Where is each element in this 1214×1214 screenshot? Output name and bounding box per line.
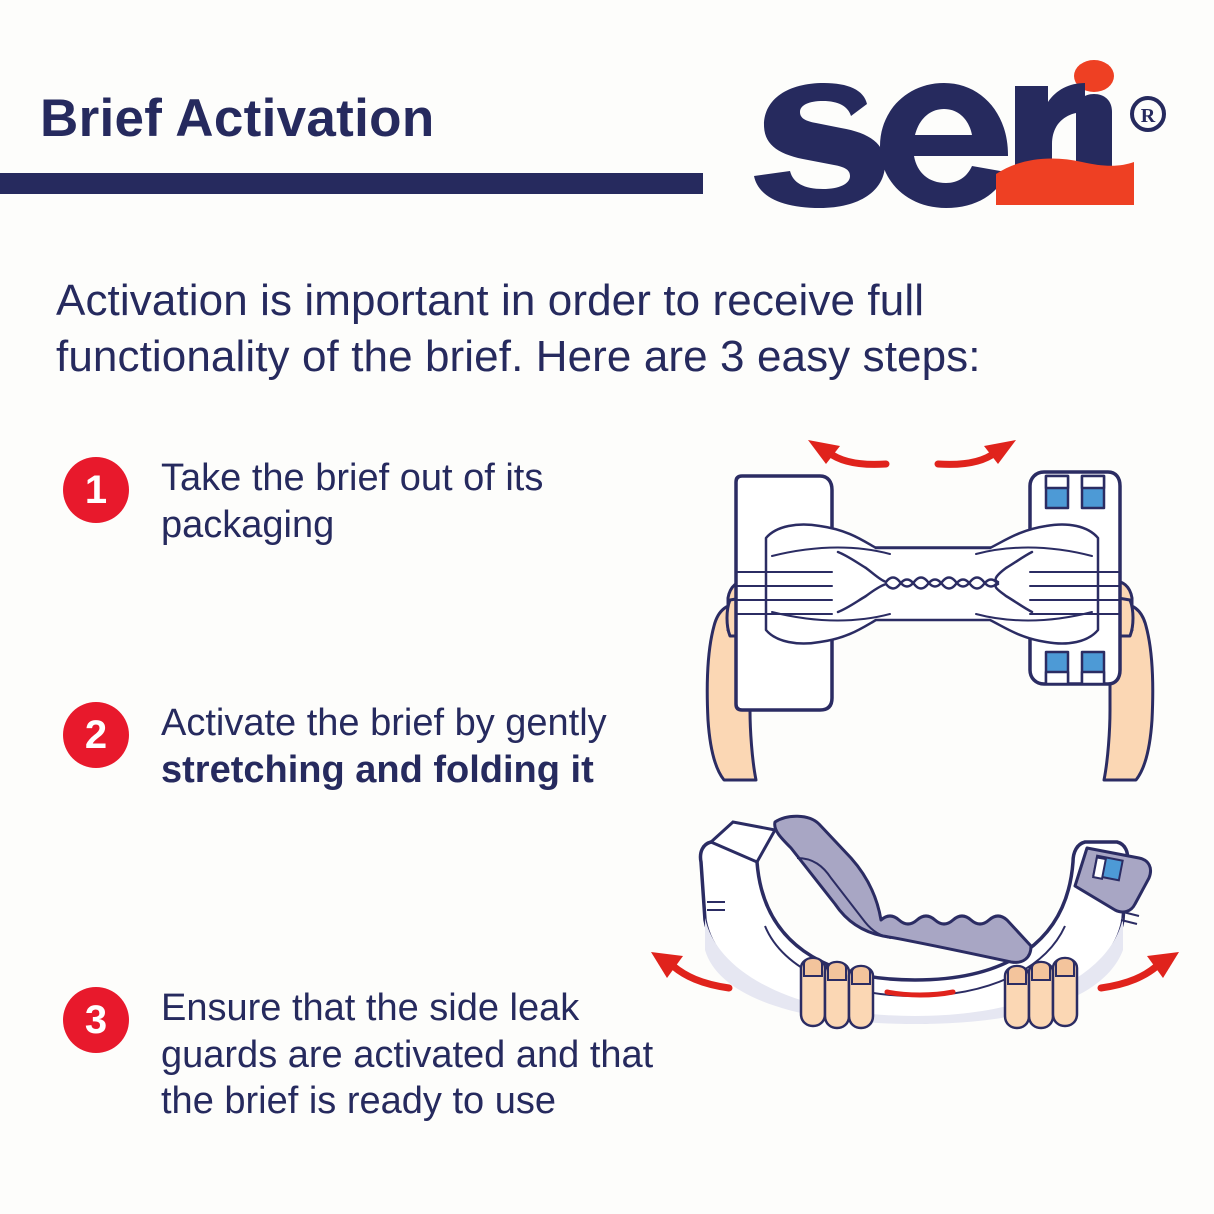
svg-text:R: R [1141,105,1156,127]
logo-orange-wave [996,158,1134,205]
brief-fold-illustration [615,800,1214,1050]
intro-paragraph: Activation is important in order to rece… [56,273,1116,386]
stretch-arrows [808,440,1016,464]
step-badge-1: 1 [63,457,129,523]
right-hand-fingers-group [1005,958,1077,1028]
registered-trademark-icon: R [1132,98,1164,130]
arrow-left-curve [828,452,886,464]
step-text-2-emphasis: stretching and folding it [161,749,594,791]
step-text-2: Activate the brief by gently stretching … [161,700,661,793]
brief-inner-core [766,525,1098,644]
seni-logo: R [752,52,1172,212]
brief-stretch-svg [680,430,1180,780]
header: Brief Activation R [0,0,1214,230]
seni-logo-svg: R [752,52,1172,212]
step-text-3: Ensure that the side leak guards are act… [161,985,661,1125]
step-text-1-lead: Take the brief out of its packaging [161,457,543,546]
step-item-1: 1 Take the brief out of its packaging [63,455,661,548]
arrow-right-curve [938,452,996,464]
side-leak-guard [775,816,1031,962]
brief-stretch-illustration [680,430,1180,780]
step-text-1: Take the brief out of its packaging [161,455,661,548]
brief-fold-svg [615,800,1214,1050]
logo-letter-s [754,83,885,208]
step-text-2-lead: Activate the brief by gently [161,702,607,744]
step-item-2: 2 Activate the brief by gently stretchin… [63,700,661,793]
infographic-page: Brief Activation R [0,0,1214,1214]
step-item-3: 3 Ensure that the side leak guards are a… [63,985,661,1125]
left-hand-fingers-group [801,958,873,1028]
step-badge-3: 3 [63,987,129,1053]
logo-letter-e [880,83,1008,208]
step-text-3-lead: Ensure that the side leak guards are act… [161,987,653,1122]
title-underline-rule [0,173,703,194]
step-badge-2: 2 [63,702,129,768]
page-title: Brief Activation [40,88,435,149]
